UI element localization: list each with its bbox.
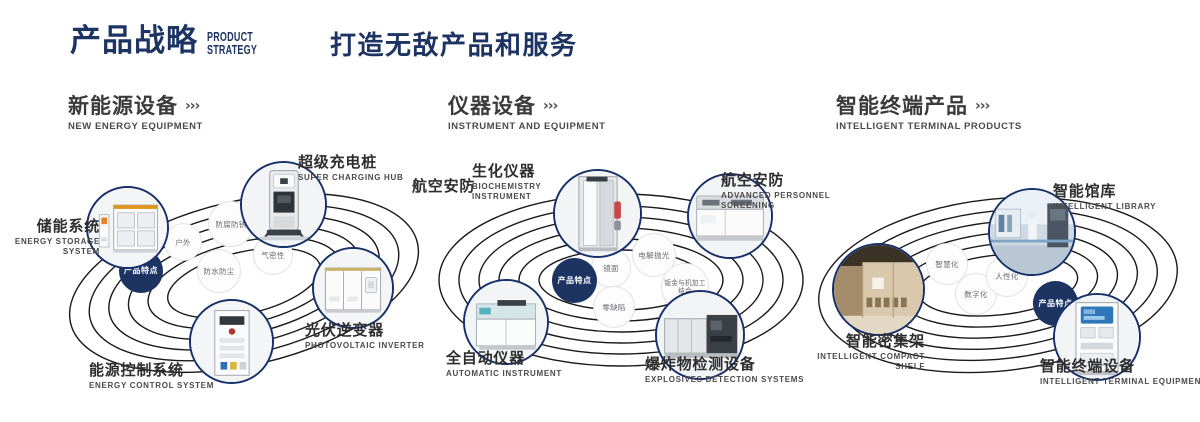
label-cn: 爆炸物检测设备 xyxy=(645,356,804,373)
label-en: INTELLIGENT COMPACTSHELF xyxy=(815,352,925,372)
label-cn: 智能密集架 xyxy=(815,333,925,350)
label-en: BIOCHEMISTRYINSTRUMENT xyxy=(472,182,541,202)
section-title-cn-0: 新能源设备››› xyxy=(68,95,203,117)
label-intelligent-terminal-equipment: 智能终端设备 INTELLIGENT TERMINAL EQUIPMENT xyxy=(1040,358,1200,387)
label-energy-storage-system: 储能系统 ENERGY STORAGESYSTEM xyxy=(0,218,100,257)
page-title-cn: 产品战略 xyxy=(70,26,198,57)
section-header-instrument: 仪器设备››› INSTRUMENT AND EQUIPMENT xyxy=(448,95,605,132)
label-automatic-instrument: 全自动仪器 AUTOMATIC INSTRUMENT xyxy=(446,350,562,379)
label-cn: 储能系统 xyxy=(0,218,100,235)
chevron-right-icon: ››› xyxy=(185,98,199,114)
page-subtitle: 打造无敌产品和服务 xyxy=(330,33,578,59)
label-intelligent-compact-shelf: 智能密集架 INTELLIGENT COMPACTSHELF xyxy=(815,333,925,372)
section-title-cn-2: 智能终端产品››› xyxy=(836,95,1022,117)
page-title-en: PRODUCT STRATEGY xyxy=(207,31,257,56)
label-cn: 航空安防 xyxy=(412,178,475,195)
feature-bubble-2: 防水防尘 xyxy=(197,249,241,293)
feature-bubble-2: 零缺陷 xyxy=(593,286,635,328)
node-biochemistry-instrument[interactable] xyxy=(553,169,642,258)
label-en: ENERGY CONTROL SYSTEM xyxy=(89,381,214,391)
label-cn: 能源控制系统 xyxy=(89,362,214,379)
photovoltaic-inverter-image xyxy=(314,249,392,327)
chevron-right-icon: ››› xyxy=(543,98,557,114)
section-header-new-energy: 新能源设备››› NEW ENERGY EQUIPMENT xyxy=(68,95,203,132)
node-photovoltaic-inverter[interactable] xyxy=(312,247,394,329)
page-title-en-line2: STRATEGY xyxy=(207,43,257,57)
section-title-text-0: 新能源设备 xyxy=(68,94,178,118)
feature-bubble-label-2: 防水防尘 xyxy=(203,267,234,276)
label-en: EXPLOSIVES DETECTION SYSTEMS xyxy=(645,375,804,385)
label-cn: 生化仪器 xyxy=(472,163,541,180)
label-cn: 智能馆库 xyxy=(1053,183,1156,200)
intelligent-compact-shelf-image xyxy=(834,245,923,334)
section-title-cn-1: 仪器设备››› xyxy=(448,95,605,117)
node-intelligent-compact-shelf[interactable] xyxy=(832,243,925,336)
label-energy-control-system: 能源控制系统 ENERGY CONTROL SYSTEM xyxy=(89,362,214,391)
label-super-charging-hub: 超级充电桩 SUPER CHARGING HUB xyxy=(298,154,404,183)
biochemistry-instrument-image xyxy=(555,171,640,256)
feature-bubble-label-1: 电解抛光 xyxy=(638,251,669,260)
label-cn: 光伏逆变器 xyxy=(305,322,425,339)
feature-bubble-0: 户外 xyxy=(164,223,202,261)
page-title: 产品战略 PRODUCT STRATEGY xyxy=(70,26,277,57)
label-photovoltaic-inverter: 光伏逆变器 PHOTOVOLTAIC INVERTER xyxy=(305,322,425,351)
label-en: INTELLIGENT LIBRARY xyxy=(1053,202,1156,212)
label-en: INTELLIGENT TERMINAL EQUIPMENT xyxy=(1040,377,1200,387)
section-header-intelligent-terminal: 智能终端产品››› INTELLIGENT TERMINAL PRODUCTS xyxy=(836,95,1022,132)
section-title-en-0: NEW ENERGY EQUIPMENT xyxy=(68,121,203,132)
label-aviation-security: 航空安防 xyxy=(412,178,475,195)
section-title-en-2: INTELLIGENT TERMINAL PRODUCTS xyxy=(836,121,1022,132)
label-en: PHOTOVOLTAIC INVERTER xyxy=(305,341,425,351)
product-strategy-infographic: 产品战略 PRODUCT STRATEGY 打造无敌产品和服务 新能源设备›››… xyxy=(0,0,1200,422)
section-title-en-1: INSTRUMENT AND EQUIPMENT xyxy=(448,121,605,132)
label-en: SUPER CHARGING HUB xyxy=(298,173,404,183)
core-bubble: 产品特点 xyxy=(552,258,597,303)
label-intelligent-library: 智能馆库 INTELLIGENT LIBRARY xyxy=(1053,183,1156,212)
label-cn: 超级充电桩 xyxy=(298,154,404,171)
section-title-text-1: 仪器设备 xyxy=(448,94,536,118)
label-en: AUTOMATIC INSTRUMENT xyxy=(446,369,562,379)
label-biochemistry-instrument: 生化仪器 BIOCHEMISTRYINSTRUMENT xyxy=(472,163,541,202)
label-cn: 全自动仪器 xyxy=(446,350,562,367)
label-explosives-detection-systems: 爆炸物检测设备 EXPLOSIVES DETECTION SYSTEMS xyxy=(645,356,804,385)
chevron-right-icon: ››› xyxy=(975,98,989,114)
label-cn: 智能终端设备 xyxy=(1040,358,1200,375)
label-en: ENERGY STORAGESYSTEM xyxy=(0,237,100,257)
section-title-text-2: 智能终端产品 xyxy=(836,94,968,118)
